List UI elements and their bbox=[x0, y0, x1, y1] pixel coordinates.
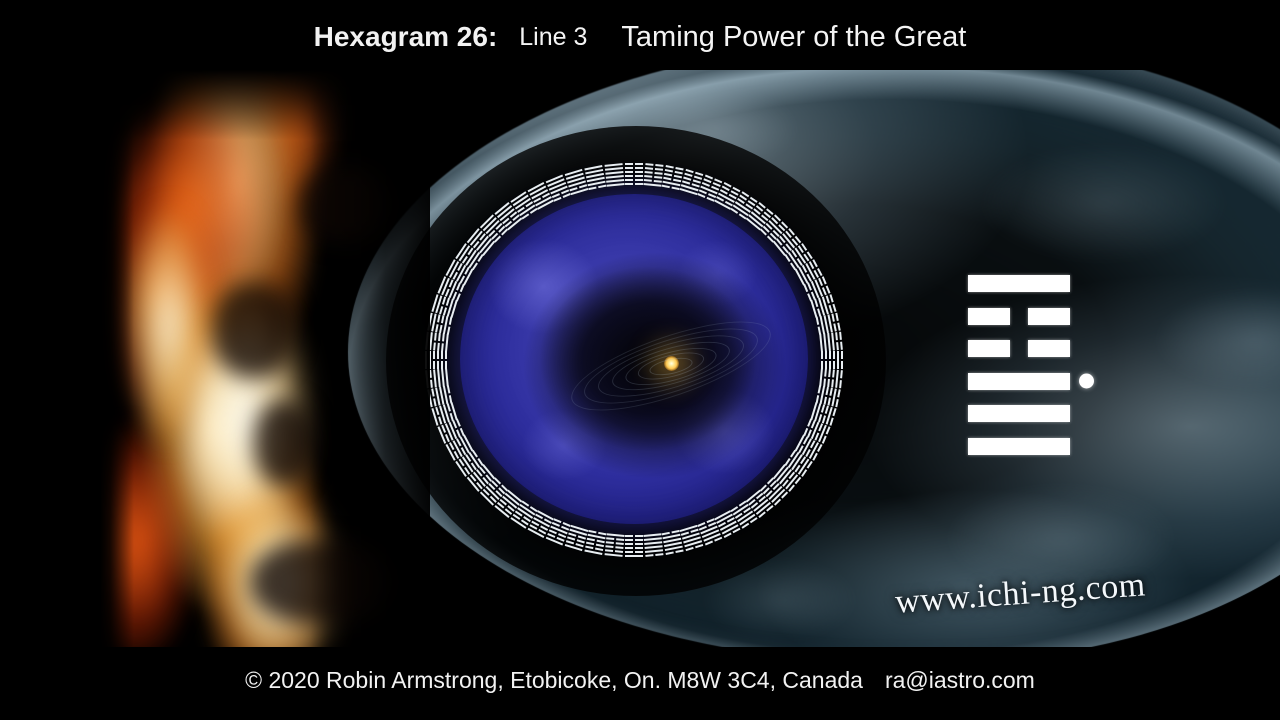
line-number-label: Line 3 bbox=[519, 23, 587, 52]
changing-line-marker-dot bbox=[1079, 374, 1094, 389]
flame-soot-middle bbox=[254, 400, 314, 486]
hexagram-line-1 bbox=[968, 438, 1070, 455]
yin-line-segment-b bbox=[1028, 308, 1070, 325]
yang-line-bar bbox=[968, 438, 1070, 455]
hexagram-line-6 bbox=[968, 275, 1070, 292]
yin-line-segment-b bbox=[1028, 340, 1070, 357]
hexagram-line-4 bbox=[968, 340, 1070, 357]
copyright-text: © 2020 Robin Armstrong, Etobicoke, On. M… bbox=[245, 667, 863, 694]
contact-email: ra@iastro.com bbox=[885, 667, 1035, 694]
blue-sphere bbox=[460, 194, 808, 524]
video-frame-stage: Hexagram 26: Line 3 Taming Power of the … bbox=[0, 0, 1280, 720]
footer-bar: © 2020 Robin Armstrong, Etobicoke, On. M… bbox=[0, 660, 1280, 700]
yang-line-bar bbox=[968, 275, 1070, 292]
flame-fade-right bbox=[310, 70, 430, 647]
yang-line-bar bbox=[968, 373, 1070, 390]
fire-flames bbox=[100, 70, 430, 647]
yin-line-segment-a bbox=[968, 308, 1010, 325]
page-title: Hexagram 26: Line 3 Taming Power of the … bbox=[0, 14, 1280, 60]
hexagram-name-label: Taming Power of the Great bbox=[621, 21, 966, 54]
hexagram-line-5 bbox=[968, 308, 1070, 325]
hexagram-26-diagram bbox=[968, 275, 1118, 455]
scene-image: www.ichi-ng.com bbox=[100, 70, 1280, 647]
hexagram-line-2 bbox=[968, 405, 1070, 422]
hexagram-line-3 bbox=[968, 373, 1070, 390]
hexagram-number-label: Hexagram 26: bbox=[314, 21, 498, 53]
flame-fade-left bbox=[100, 70, 134, 647]
yin-line-segment-a bbox=[968, 340, 1010, 357]
yang-line-bar bbox=[968, 405, 1070, 422]
flame-soot-upper bbox=[212, 282, 296, 378]
